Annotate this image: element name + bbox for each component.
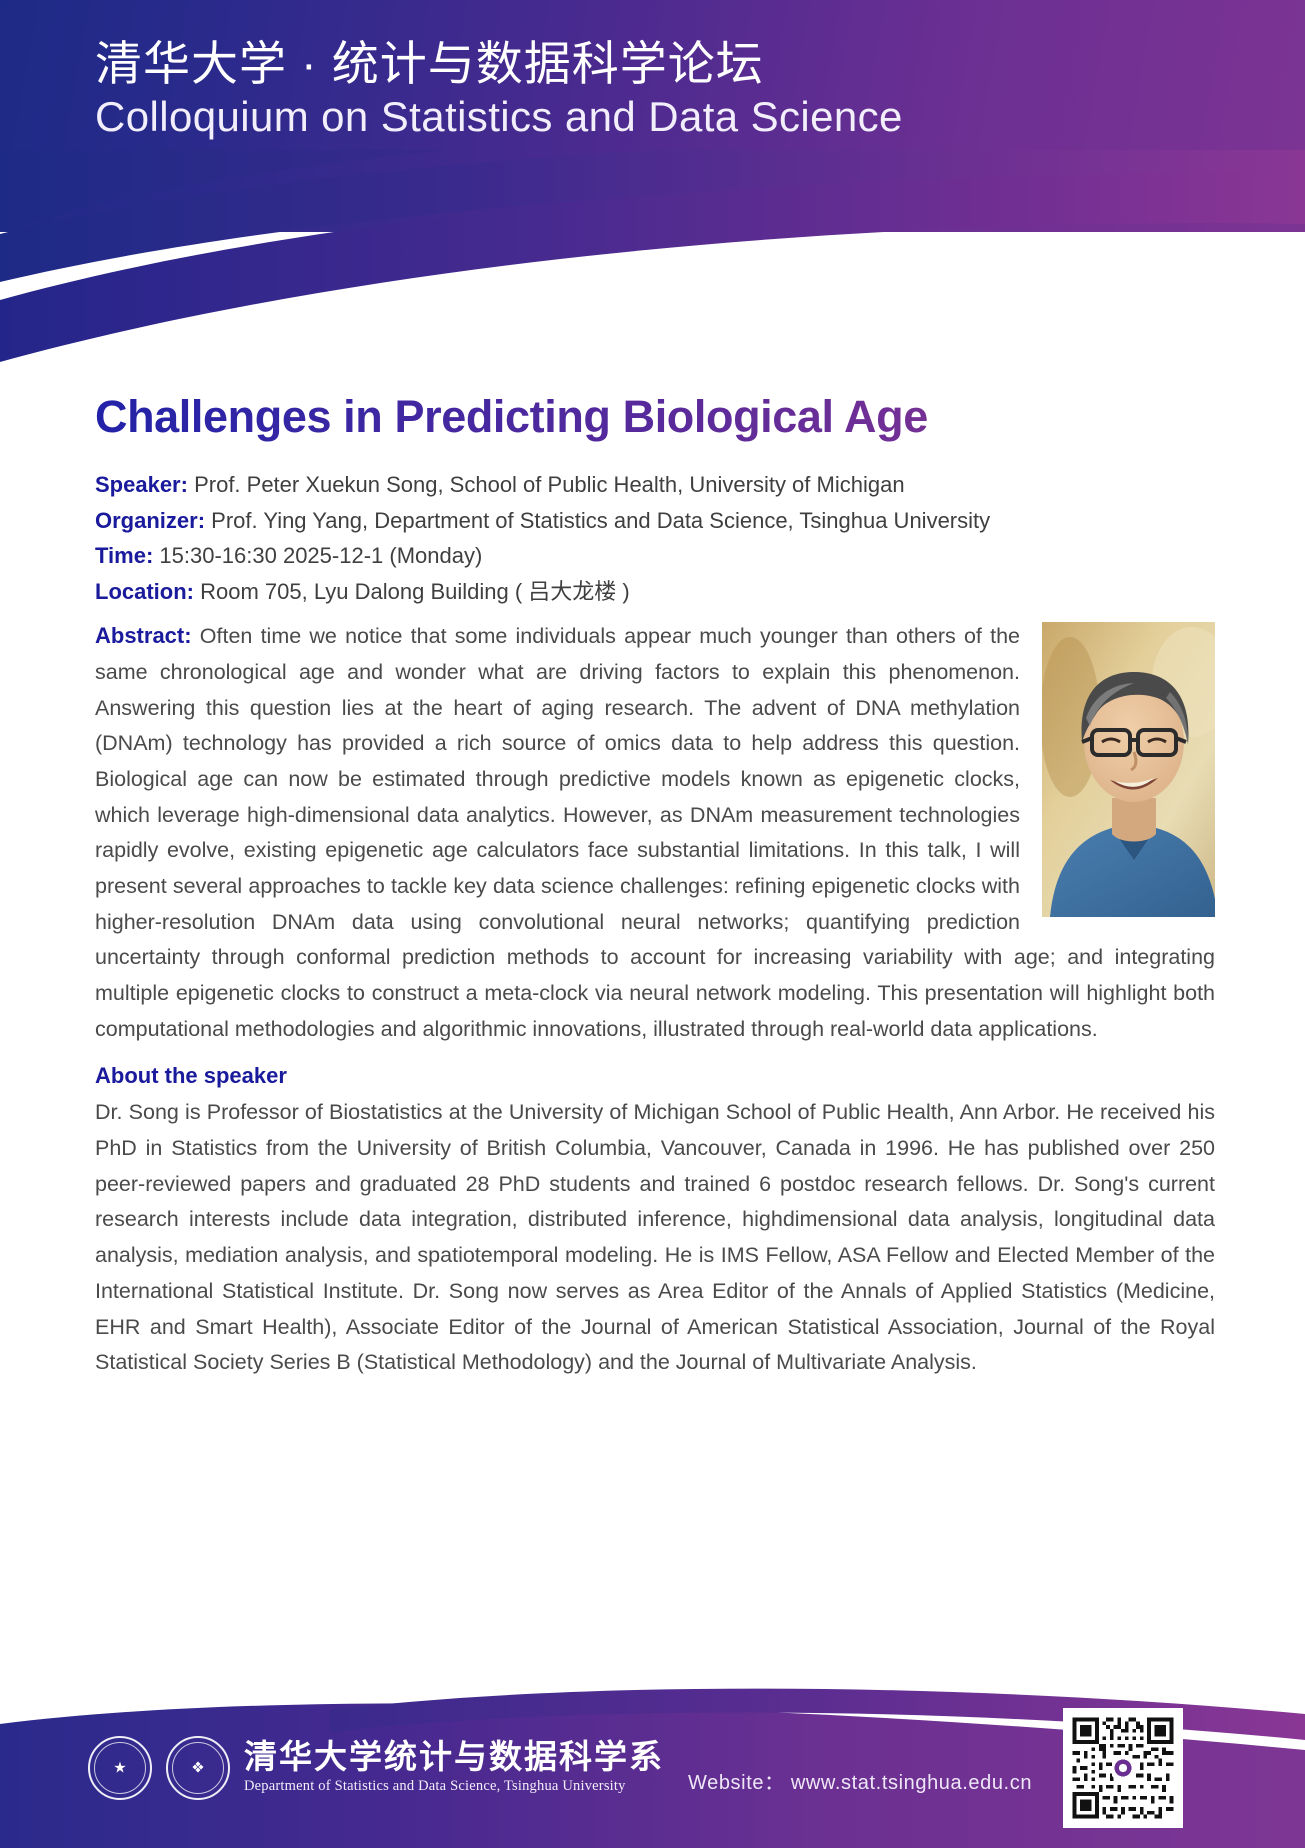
about-speaker-text: Dr. Song is Professor of Biostatistics a… (95, 1095, 1215, 1381)
poster-header: 清华大学 · 统计与数据科学论坛 Colloquium on Statistic… (0, 0, 1305, 232)
department-name-cn: 清华大学统计与数据科学系 (244, 1741, 664, 1776)
location-label: Location: (95, 579, 194, 604)
about-speaker-heading: About the speaker (95, 1063, 1215, 1089)
poster-root: 清华大学 · 统计与数据科学论坛 Colloquium on Statistic… (0, 0, 1305, 1848)
abstract-block: Abstract: Often time we notice that some… (95, 618, 1215, 1381)
department-name-en: Department of Statistics and Data Scienc… (244, 1778, 664, 1795)
seal-star-glyph: ★ (113, 1761, 126, 1776)
tsinghua-university-seal-icon: ★ (88, 1736, 152, 1800)
department-seal-icon: ❖ (166, 1736, 230, 1800)
header-text-group: 清华大学 · 统计与数据科学论坛 Colloquium on Statistic… (95, 36, 1195, 140)
header-title-cn: 清华大学 · 统计与数据科学论坛 (95, 36, 1195, 91)
seal-book-glyph: ❖ (191, 1761, 204, 1776)
location-value: Room 705, Lyu Dalong Building ( 吕大龙楼 ) (200, 579, 630, 604)
time-label: Time: (95, 543, 153, 568)
info-line-speaker: Speaker: Prof. Peter Xuekun Song, School… (95, 468, 1215, 501)
qr-code-icon (1069, 1714, 1177, 1822)
poster-body: Challenges in Predicting Biological Age … (95, 392, 1215, 1381)
page-title: Challenges in Predicting Biological Age (95, 392, 1215, 442)
speaker-label: Speaker: (95, 472, 188, 497)
speaker-portrait (1042, 622, 1215, 917)
time-value: 15:30-16:30 2025-12-1 (Monday) (159, 543, 482, 568)
portrait-illustration (1042, 622, 1215, 917)
info-line-organizer: Organizer: Prof. Ying Yang, Department o… (95, 504, 1215, 537)
qr-code[interactable] (1063, 1708, 1183, 1828)
header-title-en: Colloquium on Statistics and Data Scienc… (95, 93, 1195, 140)
info-line-time: Time: 15:30-16:30 2025-12-1 (Monday) (95, 539, 1215, 572)
organizer-value: Prof. Ying Yang, Department of Statistic… (211, 508, 990, 533)
info-line-location: Location: Room 705, Lyu Dalong Building … (95, 575, 1215, 608)
organizer-label: Organizer: (95, 508, 205, 533)
department-name-group: 清华大学统计与数据科学系 Department of Statistics an… (244, 1741, 664, 1796)
footer-branding: ★ ❖ 清华大学统计与数据科学系 Department of Statistic… (88, 1736, 664, 1800)
website-link[interactable]: Website： www.stat.tsinghua.edu.cn (688, 1766, 1032, 1795)
abstract-label: Abstract: (95, 623, 192, 648)
speaker-value: Prof. Peter Xuekun Song, School of Publi… (194, 472, 904, 497)
